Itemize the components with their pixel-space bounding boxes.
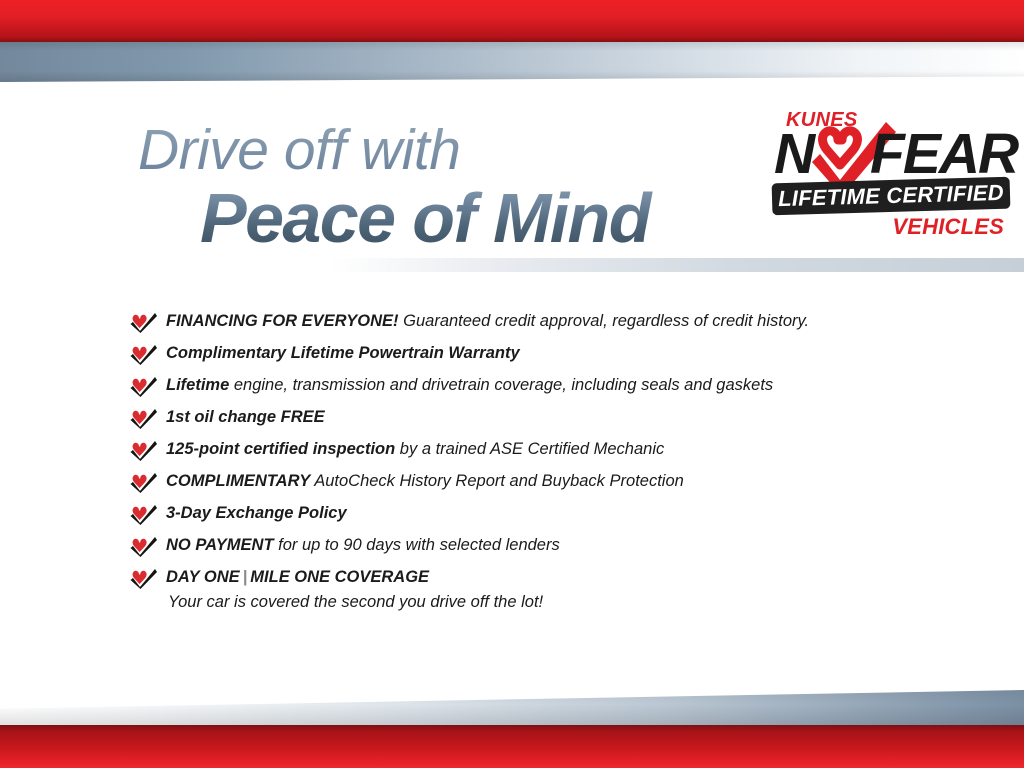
list-item-rest: by a trained ASE Certified Mechanic	[395, 440, 664, 458]
list-item-text: 3-Day Exchange Policy	[166, 500, 930, 524]
list-item-text: Complimentary Lifetime Powertrain Warran…	[166, 340, 930, 364]
top-red-band	[0, 0, 1024, 43]
logo-certified-banner-text: LIFETIME CERTIFIED	[772, 177, 1011, 216]
heart-check-bullet-icon	[130, 312, 157, 333]
logo-vehicles-text: VEHICLES	[892, 214, 1004, 240]
list-item: COMPLIMENTARY AutoCheck History Report a…	[130, 468, 930, 499]
list-item: NO PAYMENT for up to 90 days with select…	[130, 532, 930, 563]
list-item-bold: FINANCING FOR EVERYONE!	[166, 312, 399, 330]
list-item-bold: 1st oil change FREE	[166, 408, 325, 426]
heart-check-bullet-icon	[130, 536, 157, 557]
list-item: FINANCING FOR EVERYONE! Guaranteed credi…	[130, 308, 930, 339]
list-item-text: Lifetime engine, transmission and drivet…	[166, 372, 930, 396]
list-item: Lifetime engine, transmission and drivet…	[130, 372, 930, 403]
heart-check-bullet-icon	[130, 568, 157, 589]
list-item-rest: Guaranteed credit approval, regardless o…	[399, 312, 810, 330]
list-item-text: DAY ONE|MILE ONE COVERAGE	[166, 564, 930, 588]
heart-check-bullet-icon	[130, 344, 157, 365]
bottom-gray-band-shading	[0, 690, 1024, 726]
logo-certified-banner: LIFETIME CERTIFIED	[772, 177, 1011, 216]
list-item-text: NO PAYMENT for up to 90 days with select…	[166, 532, 930, 556]
list-item-text: COMPLIMENTARY AutoCheck History Report a…	[166, 468, 930, 492]
list-item-bold: DAY ONE	[166, 568, 240, 586]
list-item: DAY ONE|MILE ONE COVERAGE Your car is co…	[130, 564, 930, 613]
logo-letter-n: N	[774, 126, 813, 183]
list-item: 3-Day Exchange Policy	[130, 500, 930, 531]
promotional-poster: Drive off with Peace of Mind KUNES N FEA…	[0, 0, 1024, 768]
bottom-red-band	[0, 725, 1024, 768]
list-item-bold: 3-Day Exchange Policy	[166, 504, 347, 522]
kunes-no-fear-logo: KUNES N FEAR LIFETIME CERTIFIED VEHICLES	[766, 104, 1014, 252]
list-item-bold: Lifetime	[166, 376, 229, 394]
list-item: 125-point certified inspection by a trai…	[130, 436, 930, 467]
headline-divider	[330, 258, 1024, 272]
list-item-bold: NO PAYMENT	[166, 536, 274, 554]
top-gray-band-shading	[0, 42, 1024, 82]
list-item-text: 1st oil change FREE	[166, 404, 930, 428]
list-item: 1st oil change FREE	[130, 404, 930, 435]
heart-check-bullet-icon	[130, 472, 157, 493]
heart-check-bullet-icon	[130, 440, 157, 461]
list-item: Complimentary Lifetime Powertrain Warran…	[130, 340, 930, 371]
list-item-rest: engine, transmission and drivetrain cove…	[229, 376, 773, 394]
headline-line-2: Peace of Mind	[200, 183, 758, 254]
headline-block: Drive off with Peace of Mind	[138, 122, 758, 254]
list-item-bold: Complimentary Lifetime Powertrain Warran…	[166, 344, 520, 362]
heart-check-bullet-icon	[130, 376, 157, 397]
list-item-text: FINANCING FOR EVERYONE! Guaranteed credi…	[166, 308, 930, 332]
headline-line-1: Drive off with	[138, 122, 758, 179]
feature-list: FINANCING FOR EVERYONE! Guaranteed credi…	[130, 308, 930, 614]
heart-check-bullet-icon	[130, 408, 157, 429]
list-item-subtext: Your car is covered the second you drive…	[166, 588, 930, 613]
list-item-rest: AutoCheck History Report and Buyback Pro…	[310, 472, 684, 490]
list-item-text: 125-point certified inspection by a trai…	[166, 436, 930, 460]
list-item-rest: for up to 90 days with selected lenders	[274, 536, 560, 554]
list-item-bold: COMPLIMENTARY	[166, 472, 310, 490]
list-item-bold: 125-point certified inspection	[166, 440, 395, 458]
list-item-bold-2: MILE ONE COVERAGE	[250, 568, 429, 586]
list-item-separator: |	[240, 568, 251, 586]
logo-word-fear: FEAR	[870, 126, 1017, 183]
heart-check-bullet-icon	[130, 504, 157, 525]
